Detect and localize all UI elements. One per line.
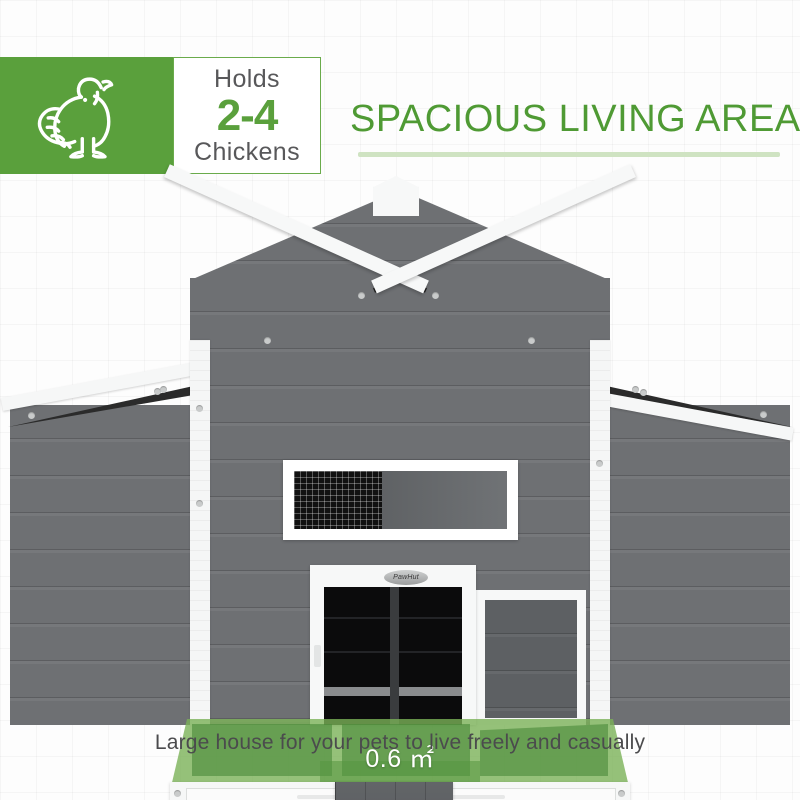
capacity-unit-label: Chickens [194,140,300,165]
wire-mesh-panel [294,471,382,529]
left-wing-fascia [1,362,196,411]
chicken-capacity-icon-panel [0,57,173,174]
screw-dot [528,337,535,344]
screw-dot [358,292,365,299]
side-panel-siding [485,600,577,718]
sliding-shutter-panel[interactable] [382,471,507,529]
brand-badge: PawHut [384,570,428,585]
capacity-count: 2-4 [217,94,278,138]
screw-dot [196,500,203,507]
screw-dot [160,386,167,393]
screw-dot [618,790,625,797]
footer-caption: Large house for your pets to live freely… [0,731,800,755]
screw-dot [196,405,203,412]
main-door[interactable]: PawHut [310,565,476,725]
right-corner-post [590,340,610,725]
pull-out-tray-right[interactable] [426,788,616,800]
tray-handle[interactable] [445,795,505,799]
access-ramp[interactable] [335,782,453,800]
screw-dot [632,386,639,393]
left-corner-post [190,340,210,725]
right-wing-siding [605,405,790,725]
brand-badge-label: PawHut [393,574,419,581]
chicken-icon [35,68,139,164]
gable-window-opening [294,471,507,529]
capacity-badge: Holds 2-4 Chickens [173,57,321,174]
door-center-mullion [390,587,399,725]
screw-dot [760,411,767,418]
page-title: SPACIOUS LIVING AREA [350,98,800,141]
headline-underline [358,152,780,157]
product-feature-card: Holds 2-4 Chickens SPACIOUS LIVING AREA [0,0,800,800]
side-access-panel[interactable] [476,590,586,725]
capacity-holds-label: Holds [214,67,280,92]
screw-dot [28,412,35,419]
left-wing-siding [10,405,195,725]
living-area-overlay: 0.6 ㎡ [170,719,630,791]
gable-window[interactable] [283,460,518,540]
screw-dot [174,790,181,797]
ridge-cap [373,176,419,216]
chicken-coop-image: PawHut 0.6 ㎡ [0,170,800,710]
screw-dot [640,389,647,396]
screw-dot [596,460,603,467]
screw-dot [264,337,271,344]
screw-dot [432,292,439,299]
door-latch[interactable] [314,645,321,667]
door-opening [324,587,462,725]
